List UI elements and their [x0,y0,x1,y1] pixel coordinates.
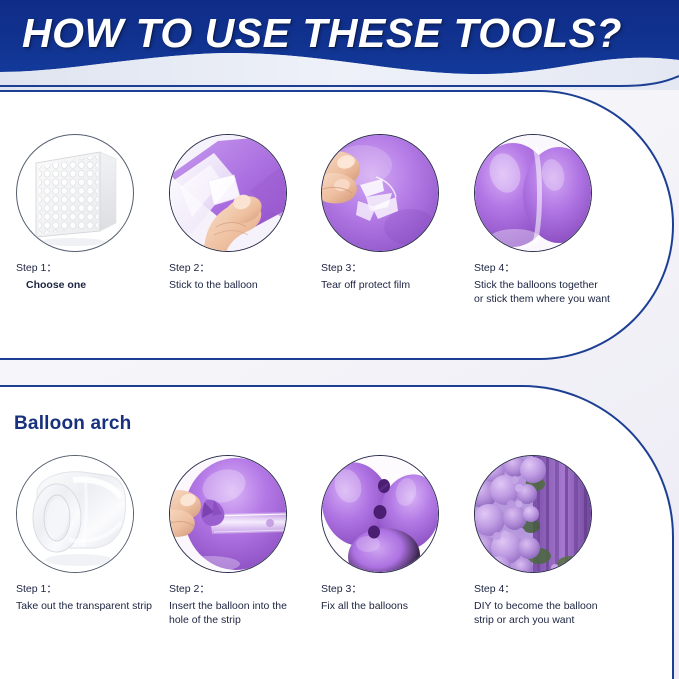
panel-glue-dots: Step 1： Choose one [0,90,674,360]
page-header: HOW TO USE THESE TOOLS? [0,0,679,90]
three-balloons-illustration [322,456,438,572]
step-image-finished-arch [474,455,592,573]
step-card-arch-4: Step 4： DIY to become the balloon strip … [474,455,639,627]
step-caption-arch-4: Step 4： DIY to become the balloon strip … [474,582,639,627]
step-text: Insert the balloon into the hole of the … [169,599,334,627]
finished-balloon-arch-illustration [475,456,591,572]
panel-balloon-arch: Balloon arch [0,385,674,679]
insert-balloon-illustration [170,456,286,572]
step-image-hand-sticking-dot [169,134,287,252]
step-text: Stick the balloons together or stick the… [474,278,639,306]
glue-dot-sheet-icon [17,135,134,252]
step-text: Tear off protect film [321,278,486,292]
step-text: DIY to become the balloon strip or arch … [474,599,639,627]
step-card-glue-3: Step 3： Tear off protect film [321,134,486,292]
peeling-protect-film-illustration [322,135,438,251]
hand-sticking-dot-illustration [170,135,286,251]
step-caption-arch-3: Step 3： Fix all the balloons [321,582,486,613]
step-caption-glue-4: Step 4： Stick the balloons together or s… [474,261,639,306]
step-card-arch-2: Step 2： Insert the balloon into the hole… [169,455,334,627]
step-card-glue-2: Step 2： Stick to the balloon [169,134,334,292]
step-card-arch-1: Step 1： Take out the transparent strip [16,455,181,613]
step-image-insert-balloon [169,455,287,573]
step-caption-glue-3: Step 3： Tear off protect film [321,261,486,292]
page-title: HOW TO USE THESE TOOLS? [22,10,662,57]
step-number: Step 1： [16,582,181,596]
step-text: Take out the transparent strip [16,599,181,613]
step-number: Step 2： [169,261,334,275]
step-number: Step 4： [474,582,639,596]
step-image-two-balloons [474,134,592,252]
step-card-glue-4: Step 4： Stick the balloons together or s… [474,134,639,306]
step-number: Step 3： [321,582,486,596]
step-image-tape-roll [16,455,134,573]
step-card-glue-1: Step 1： Choose one [16,134,181,292]
transparent-tape-roll-illustration [17,456,133,572]
step-number: Step 3： [321,261,486,275]
step-caption-arch-1: Step 1： Take out the transparent strip [16,582,181,613]
step-image-glue-dot-sheet [16,134,134,252]
step-text: Choose one [16,278,181,292]
step-caption-arch-2: Step 2： Insert the balloon into the hole… [169,582,334,627]
step-text: Stick to the balloon [169,278,334,292]
step-card-arch-3: Step 3： Fix all the balloons [321,455,486,613]
two-balloons-illustration [475,135,591,251]
step-caption-glue-2: Step 2： Stick to the balloon [169,261,334,292]
step-image-peeling-film [321,134,439,252]
step-image-three-balloons [321,455,439,573]
step-number: Step 2： [169,582,334,596]
step-number: Step 1： [16,261,181,275]
step-text: Fix all the balloons [321,599,486,613]
step-caption-glue-1: Step 1： Choose one [16,261,181,292]
step-number: Step 4： [474,261,639,275]
